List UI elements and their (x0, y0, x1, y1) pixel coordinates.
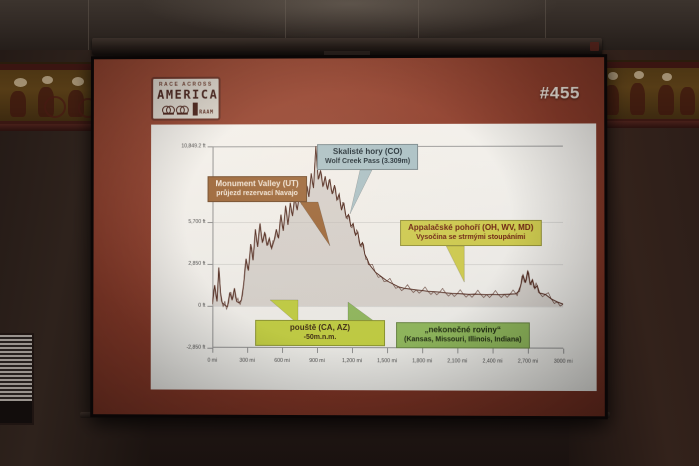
logo-bar (193, 103, 198, 116)
logo-mark-row: RAAM (157, 103, 215, 117)
callout-deserts-subtitle: -50m.n.m. (263, 332, 377, 342)
slide-number: #455 (540, 83, 580, 103)
window (0, 333, 34, 425)
projection-screen-roller[interactable] (92, 38, 602, 55)
projection-screen: RACE ACROSS AMERICA RAAM #455 10,849. (90, 54, 608, 419)
callout-plains[interactable]: „nekonečné roviny“ (Kansas, Missouri, Il… (396, 322, 530, 348)
chart-panel: 10,849.2 ft5,700 ft2,850 ft0 ft-2,850 ft… (151, 123, 597, 391)
logo-main-line: AMERICA (157, 89, 215, 102)
room-photo: RACE ACROSS AMERICA RAAM #455 10,849. (0, 0, 699, 466)
roller-end-cap (590, 42, 599, 51)
window-blinds (0, 335, 32, 401)
callout-appalachians-subtitle: Vysočina se strmými stoupáními (408, 232, 533, 242)
callout-rockies-subtitle: Wolf Creek Pass (3.309m) (325, 156, 410, 166)
wall-mural-right (600, 60, 699, 122)
callout-rockies-title: Skalisté hory (CO) (325, 147, 410, 157)
ceiling-tile-seam (88, 0, 89, 52)
wall-rail-right (600, 121, 699, 128)
logo-mark-word: RAAM (199, 110, 213, 116)
cyclist-icon (177, 105, 188, 115)
callout-appalachians-title: Appalačské pohoří (OH, WV, MD) (408, 223, 533, 233)
callout-deserts-title: pouště (CA, AZ) (263, 323, 377, 333)
callout-monument-valley[interactable]: Monument Valley (UT) průjezd rezervací N… (208, 176, 307, 202)
callout-plains-subtitle: (Kansas, Missouri, Illinois, Indiana) (404, 335, 521, 345)
callout-monument-valley-title: Monument Valley (UT) (215, 179, 298, 189)
raam-logo: RACE ACROSS AMERICA RAAM (151, 77, 220, 121)
ceiling-glow (140, 0, 560, 40)
callout-rockies[interactable]: Skalisté hory (CO) Wolf Creek Pass (3.30… (317, 144, 418, 170)
callout-appalachians[interactable]: Appalačské pohoří (OH, WV, MD) Vysočina … (400, 220, 541, 246)
presentation-slide: RACE ACROSS AMERICA RAAM #455 10,849. (93, 57, 605, 416)
callout-deserts[interactable]: pouště (CA, AZ) -50m.n.m. (255, 320, 385, 346)
callout-monument-valley-subtitle: průjezd rezervací Navajo (215, 189, 298, 199)
callout-plains-title: „nekonečné roviny“ (404, 325, 521, 335)
cyclist-icon (163, 105, 174, 115)
